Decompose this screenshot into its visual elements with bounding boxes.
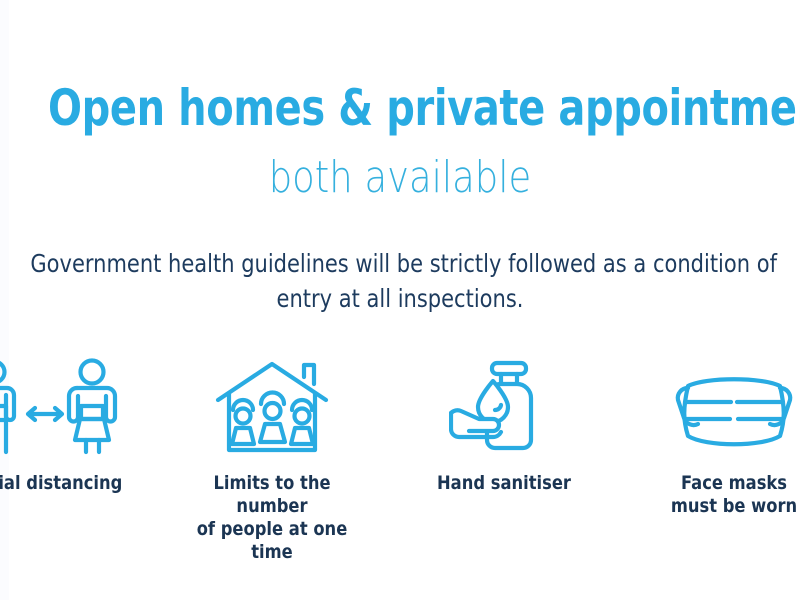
hand-sanitiser-icon: [394, 358, 614, 458]
measure-face-mask: Face masks must be worn: [624, 358, 800, 518]
measure-caption: Face masks must be worn: [639, 472, 800, 518]
poster-canvas: Open homes & private appointments both a…: [0, 0, 800, 600]
body-copy-line-1: Government health guidelines will be str…: [30, 246, 769, 281]
body-copy: Government health guidelines will be str…: [30, 246, 769, 316]
measure-occupancy-limit: Limits to the number of people at one ti…: [162, 358, 382, 564]
measure-caption: Hand sanitiser: [409, 472, 598, 495]
measure-caption: Limits to the number of people at one ti…: [177, 472, 366, 564]
measure-hand-sanitiser: Hand sanitiser: [394, 358, 614, 495]
measure-social-distancing: Social distancing: [0, 358, 154, 495]
page-title: Open homes & private appointments: [48, 78, 752, 138]
covid-safety-poster: Open homes & private appointments both a…: [0, 0, 800, 600]
social-distancing-icon: [0, 358, 154, 458]
safety-measures-row: Social distancing: [0, 358, 800, 538]
body-copy-line-2: entry at all inspections.: [30, 281, 769, 316]
face-mask-icon: [624, 358, 800, 458]
measure-caption: Social distancing: [0, 472, 139, 495]
page-subtitle: both available: [30, 152, 769, 204]
house-with-people-icon: [162, 358, 382, 458]
